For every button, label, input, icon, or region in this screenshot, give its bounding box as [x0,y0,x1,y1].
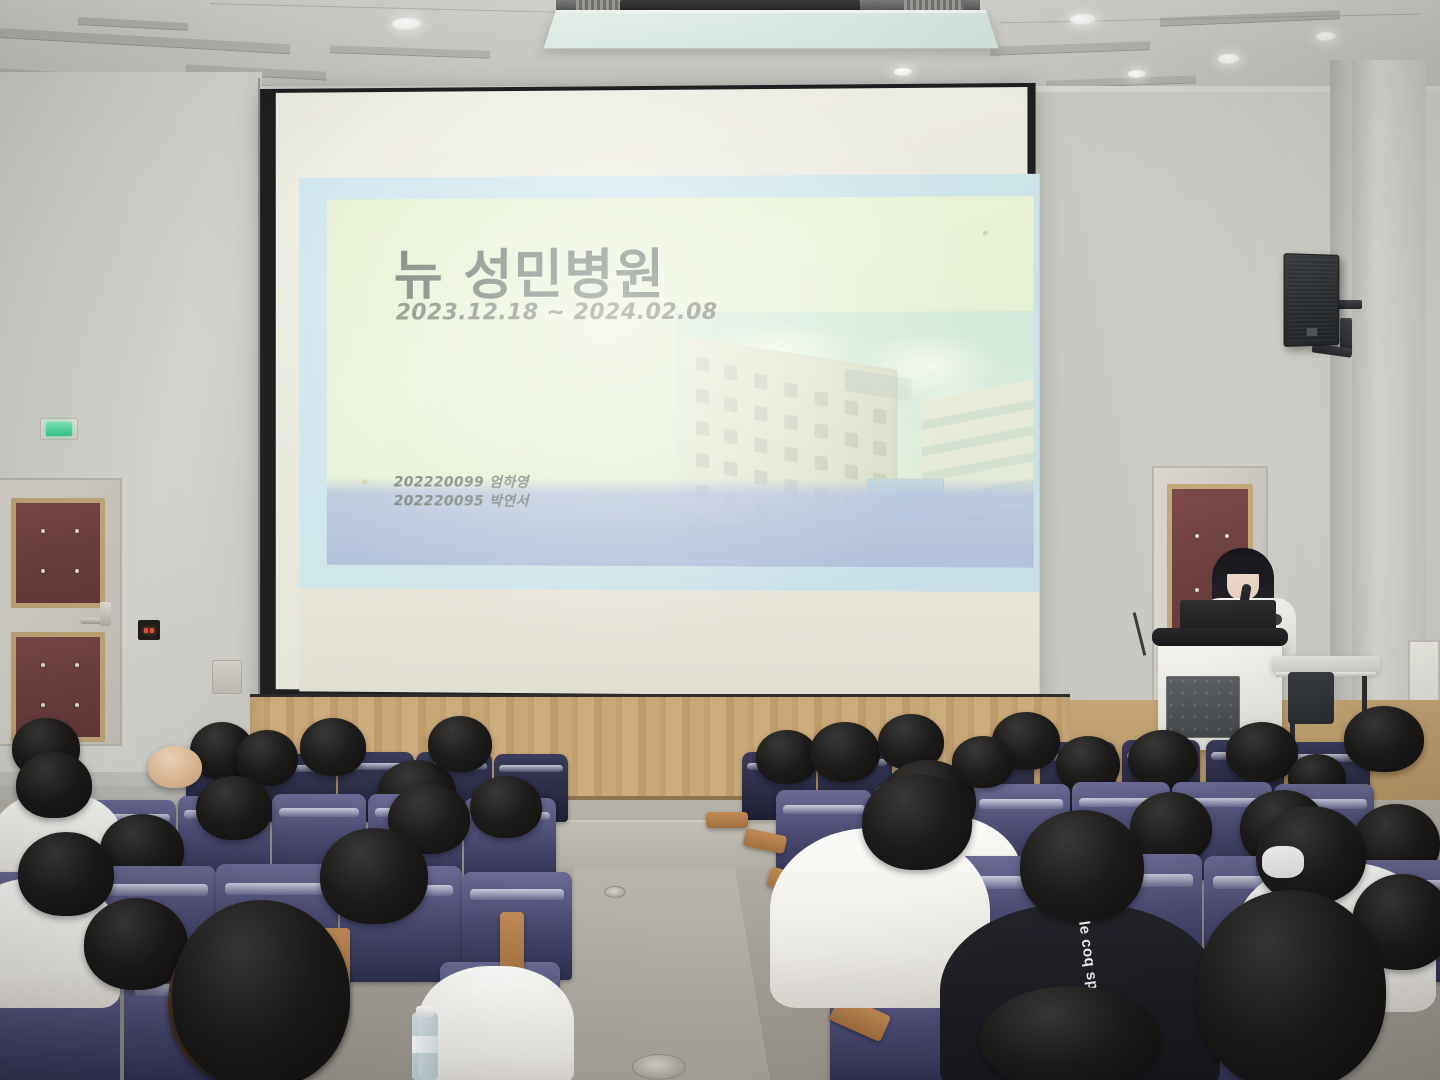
audience-head-foreground [980,986,1160,1080]
presentation-slide: 뉴 성민병원 2023.12.18 ~ 2024.02.08 202220099… [299,174,1039,592]
audience-head [470,776,542,838]
wall-access-panel[interactable] [138,620,160,640]
ceiling-downlight [1070,14,1096,25]
audience-head [952,736,1014,788]
audience-head [428,716,492,772]
speaker-logo [1307,328,1318,336]
audience-head [1226,722,1298,782]
audience-head [756,730,818,784]
audience-head [810,722,880,782]
slide-title: 뉴 성민병원 [394,230,665,310]
credit-line-1: 202220099 엄하영 [394,474,529,493]
ceiling-air-diffuser [78,17,188,31]
lecture-hall-scene: 뉴 성민병원 2023.12.18 ~ 2024.02.08 202220099… [0,0,1440,1080]
floor-fixture [632,1054,686,1080]
side-table [1272,656,1380,672]
audience-head [18,832,114,916]
audience-head [1128,730,1198,788]
podium-front-panel [1166,676,1240,738]
podium-top-surface [1152,628,1288,646]
wall-outlet-plate [212,660,242,694]
speaker-bracket-arm [1336,300,1362,309]
audience-head [320,828,428,924]
screen-speck [983,231,988,236]
face-mask [1262,846,1304,878]
credit-line-2: 202220095 박연서 [394,492,529,511]
right-pillar [1352,60,1426,720]
slide-content-area: 뉴 성민병원 2023.12.18 ~ 2024.02.08 202220099… [327,196,1034,568]
exit-sign-light [46,422,72,436]
door-left-upper[interactable] [0,478,122,746]
exit-sign [40,418,78,440]
audience-head [1344,706,1424,772]
ceiling-air-diffuser [0,28,290,55]
door-lock-plate [100,602,111,626]
audience-head-foreground [172,900,350,1080]
audience-head [1020,810,1144,922]
audience-body [430,980,570,1080]
ceiling-downlight [1316,32,1336,41]
screen-surface: 뉴 성민병원 2023.12.18 ~ 2024.02.08 202220099… [276,87,1028,695]
screen-speck [362,479,367,484]
audience-head-foreground [1196,890,1386,1080]
bottle-label [412,1036,438,1053]
projector-light-panel [544,10,999,48]
ceiling-air-diffuser [330,45,490,59]
ceiling-downlight [894,68,912,76]
slide-date-range: 2023.12.18 ~ 2024.02.08 [396,300,718,326]
ceiling-downlight [1128,70,1146,78]
door-panel [11,498,105,608]
chair [1288,672,1334,724]
projection-screen: 뉴 성민병원 2023.12.18 ~ 2024.02.08 202220099… [260,83,1036,705]
audience-head [862,774,972,870]
audience-head [148,746,202,788]
ceiling-downlight [1218,54,1240,64]
bottle-cap [416,1006,434,1017]
screen-blank-area [299,588,1039,697]
floor-fixture [604,886,626,898]
slide-credits: 202220099 엄하영 202220095 박연서 [394,474,529,512]
audience-head [196,776,272,840]
audience-head [16,752,92,818]
presenter-fringe [1223,554,1263,574]
seat-armrest [706,812,748,828]
wall-speaker [1284,253,1340,347]
audience-head [300,718,366,776]
ceiling-air-diffuser [990,41,1150,56]
right-pillar-edge [1330,60,1354,720]
ceiling-downlight [392,18,422,30]
